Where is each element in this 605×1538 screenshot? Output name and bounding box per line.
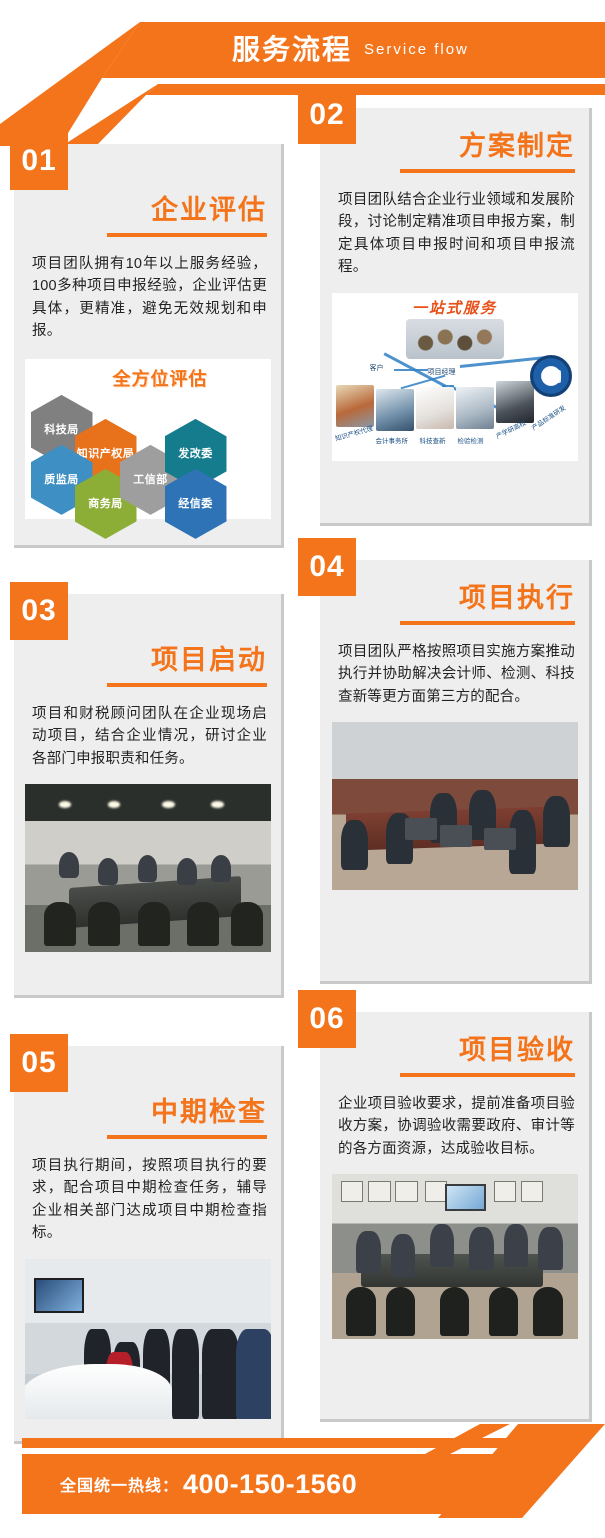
card-row-2: 03 项目启动 项目和财税顾问团队在企业现场启动项目，结合企业情况，研讨企业各部… [0, 560, 605, 1012]
card-title-02: 方案制定 [320, 124, 589, 163]
header-title-group: 服务流程 Service flow [0, 22, 605, 78]
hex-diagram: 全方位评估 科技局 知识产权局 质监局 商务局 工信部 发改委 经信委 [25, 359, 271, 519]
card-row-1: 01 企业评估 项目团队拥有10年以上服务经验，100多种项目申报经验，企业评估… [0, 108, 605, 560]
card-body-01: 项目团队拥有10年以上服务经验，100多种项目申报经验，企业评估更具体，更精准，… [14, 237, 281, 357]
one-stop-center-photo [406, 319, 504, 359]
process-card-05[interactable]: 05 中期检查 项目执行期间，按照项目执行的要求，配合项目中期检查任务，辅导企业… [14, 1046, 284, 1444]
card-title-04: 项目执行 [320, 576, 589, 615]
process-card-03[interactable]: 03 项目启动 项目和财税顾问团队在企业现场启动项目，结合企业情况，研讨企业各部… [14, 594, 284, 998]
hotline-label: 全国统一热线： [60, 1472, 179, 1496]
one-stop-thumb-search [416, 387, 454, 429]
photo-lobby-tour [25, 1259, 271, 1419]
process-card-grid: 01 企业评估 项目团队拥有10年以上服务经验，100多种项目申报经验，企业评估… [0, 108, 605, 1452]
card-row-3: 05 中期检查 项目执行期间，按照项目执行的要求，配合项目中期检查任务，辅导企业… [0, 1012, 605, 1452]
page-title-cn: 服务流程 [232, 36, 352, 64]
one-stop-client-node: 客户 [370, 363, 384, 373]
one-stop-thumb-ip [336, 385, 374, 427]
one-stop-thumb-university [496, 381, 534, 423]
process-card-04[interactable]: 04 项目执行 项目团队严格按照项目实施方案推动执行并协助解决会计师、检测、科技… [320, 560, 592, 984]
hotline-number[interactable]: 400-150-1560 [183, 1469, 357, 1500]
process-card-06[interactable]: 06 项目验收 企业项目验收要求，提前准备项目验收方案，协调验收需要政府、审计等… [320, 1012, 592, 1422]
card-title-03: 项目启动 [14, 638, 281, 677]
process-card-02[interactable]: 02 方案制定 项目团队结合企业行业领域和发展阶段，讨论制定精准项目申报方案，制… [320, 108, 592, 526]
card-number-badge-05: 05 [10, 1034, 68, 1092]
card-body-04: 项目团队严格按照项目实施方案推动执行并协助解决会计师、检测、科技查新等更方面第三… [320, 625, 589, 722]
one-stop-thumb-testing [456, 387, 494, 429]
card-number-badge-06: 06 [298, 990, 356, 1048]
one-stop-label-2: 科技查新 [420, 435, 446, 445]
page-footer: 全国统一热线： 400-150-1560 [0, 1420, 605, 1538]
card-body-03: 项目和财税顾问团队在企业现场启动项目，结合企业情况，研讨企业各部门申报职责和任务… [14, 687, 281, 784]
card-number-badge-01: 01 [10, 132, 68, 190]
card-body-05: 项目执行期间，按照项目执行的要求，配合项目中期检查任务，辅导企业相关部门达成项目… [14, 1139, 281, 1259]
one-stop-label-5: 产品标准研发 [529, 402, 567, 432]
card-body-06: 企业项目验收要求，提前准备项目验收方案，协调验收需要政府、审计等的各方面资源，达… [320, 1077, 589, 1174]
card-title-05: 中期检查 [14, 1090, 281, 1129]
one-stop-thumb-accounting [376, 389, 414, 431]
hex-diagram-title: 全方位评估 [113, 365, 208, 391]
page-title-en: Service flow [364, 42, 469, 58]
card-title-01: 企业评估 [14, 188, 281, 227]
card-number-badge-02: 02 [298, 86, 356, 144]
card-number-badge-04: 04 [298, 538, 356, 596]
photo-meeting-room [25, 784, 271, 952]
photo-working-session [332, 722, 578, 890]
footer-hotline-group: 全国统一热线： 400-150-1560 [22, 1454, 592, 1514]
one-stop-label-3: 检验检测 [458, 435, 484, 445]
photo-conference [332, 1174, 578, 1339]
process-card-01[interactable]: 01 企业评估 项目团队拥有10年以上服务经验，100多种项目申报经验，企业评估… [14, 144, 284, 548]
card-number-badge-03: 03 [10, 582, 68, 640]
one-stop-label-1: 会计事务所 [376, 435, 409, 445]
iso-seal-icon [530, 355, 572, 397]
one-stop-diagram-title: 一站式服务 [332, 297, 578, 318]
one-stop-service-diagram: 一站式服务 客户 项目经理 知识产权代理 会计事务所 科技查新 [332, 293, 578, 461]
card-body-02: 项目团队结合企业行业领域和发展阶段，讨论制定精准项目申报方案，制定具体项目申报时… [320, 173, 589, 293]
card-title-06: 项目验收 [320, 1028, 589, 1067]
